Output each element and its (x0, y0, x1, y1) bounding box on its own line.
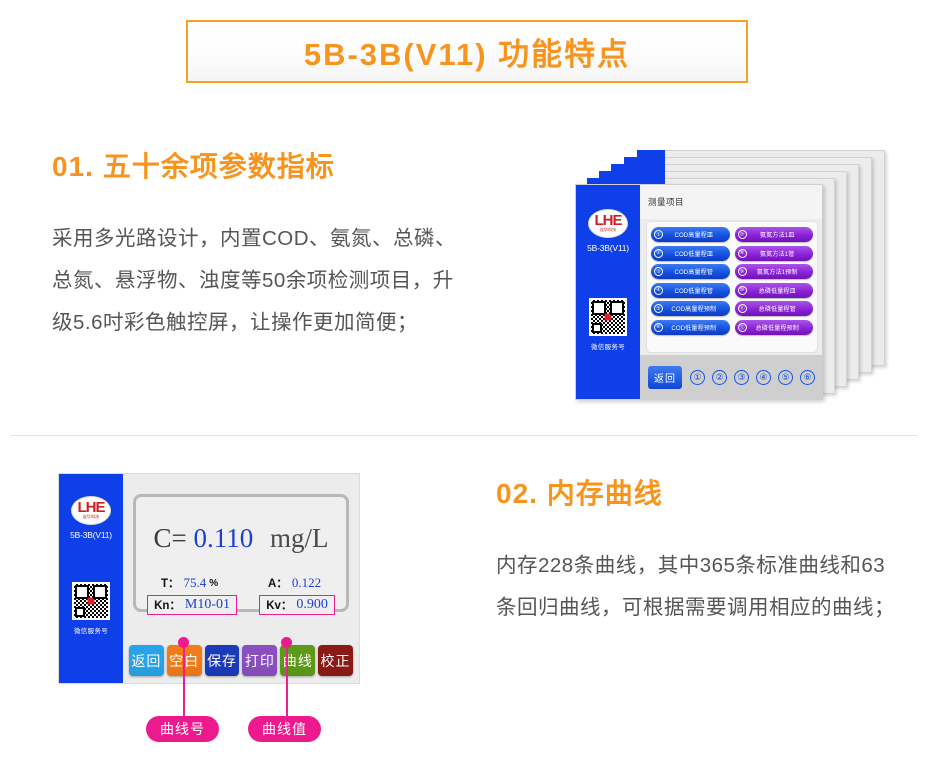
transmittance-readout: T： 75.4 % (161, 575, 218, 591)
menu-page-number-3[interactable]: ③ (734, 370, 749, 385)
lcd-row-curve: Kn： M10-01 Kv： 0.900 (136, 595, 346, 615)
curve-number-field[interactable]: Kn： M10-01 (147, 595, 237, 615)
menu-footer-bar: 返回 ①②③④⑤⑥ (640, 355, 822, 399)
curve-value-value: 0.900 (296, 597, 328, 613)
menu-column-left: ①COD高量程皿②COD低量程皿③COD高量程管④COD低量程管⑤COD高量程预… (651, 227, 730, 347)
menu-item-label: 总磷低量程管 (749, 304, 814, 313)
menu-item-label: 氨氮方法1管 (749, 249, 814, 258)
device-model-label-2: 5B-3B(V11) (70, 530, 112, 540)
curve-number-key: Kn： (154, 597, 181, 613)
menu-button-panel: ①COD高量程皿②COD低量程皿③COD高量程管④COD低量程管⑤COD高量程预… (646, 221, 818, 353)
menu-item-left-1[interactable]: ①COD高量程皿 (651, 227, 730, 242)
menu-item-right-1[interactable]: ⑦氨氮方法1皿 (735, 227, 814, 242)
concentration-readout: C= 0.110 mg/L (136, 523, 346, 554)
menu-page-number-2[interactable]: ② (712, 370, 727, 385)
menu-item-label: 氨氮方法1皿 (749, 230, 814, 239)
menu-back-button[interactable]: 返回 (648, 366, 682, 389)
curve-value-field[interactable]: Kv： 0.900 (259, 595, 335, 615)
callout-curve-number: 曲线号 (146, 716, 219, 742)
page-title: 5B-3B(V11) 功能特点 (304, 29, 630, 74)
page-root: 5B-3B(V11) 功能特点 01. 五十余项参数指标 采用多光路设计，内置C… (0, 0, 928, 766)
qr-center-icon (605, 314, 612, 321)
section-divider (10, 435, 918, 436)
transmittance-unit: % (209, 578, 218, 589)
brand-logo-subtext: 连华科技 (600, 227, 617, 233)
menu-header-label: 测量项目 (648, 196, 684, 208)
menu-item-left-6[interactable]: ⑥COD低量程预制 (651, 320, 730, 335)
concentration-key: C= (154, 523, 187, 553)
menu-item-index: ② (654, 249, 663, 258)
brand-logo-2: LHE 连华科技 (71, 496, 111, 525)
device-model-label: 5B-3B(V11) (587, 243, 629, 253)
lcd-row-transmittance: T： 75.4 % A： 0.122 (136, 575, 346, 591)
absorbance-key: A： (268, 575, 288, 591)
menu-item-label: 总磷低量程皿 (749, 286, 814, 295)
curve-value-key: Kv： (266, 597, 292, 613)
menu-item-right-6[interactable]: ⑫总磷低量程预制 (735, 320, 814, 335)
menu-item-label: COD高量程管 (665, 267, 730, 276)
menu-page-number-5[interactable]: ⑤ (778, 370, 793, 385)
result-toolbar: 返回空白保存打印曲线校正 (123, 644, 359, 677)
menu-item-right-3[interactable]: ⑨氨氮方法1预制 (735, 264, 814, 279)
menu-item-index: ① (654, 230, 663, 239)
callout-line-curve-number (183, 646, 185, 722)
brand-logo-subtext-2: 连华科技 (83, 514, 100, 520)
callout-curve-value: 曲线值 (248, 716, 321, 742)
menu-page-number-4[interactable]: ④ (756, 370, 771, 385)
menu-item-index: ⑦ (738, 230, 747, 239)
menu-item-right-5[interactable]: ⑪总磷低量程管 (735, 301, 814, 316)
menu-item-label: 总磷低量程预制 (749, 323, 814, 332)
result-button-4[interactable]: 打印 (242, 645, 277, 676)
menu-page-number-1[interactable]: ① (690, 370, 705, 385)
result-screen-device: LHE 连华科技 5B-3B(V11) 微信服务号 C= 0.110 mg/L … (58, 473, 360, 684)
menu-item-left-3[interactable]: ③COD高量程管 (651, 264, 730, 279)
menu-item-left-5[interactable]: ⑤COD高量程预制 (651, 301, 730, 316)
device-sidebar-2: LHE 连华科技 5B-3B(V11) 微信服务号 (59, 474, 123, 683)
menu-header: 测量项目 (640, 185, 822, 219)
page-title-banner: 5B-3B(V11) 功能特点 (186, 20, 748, 83)
qr-code-label: 微信服务号 (591, 341, 625, 351)
menu-item-index: ⑫ (738, 323, 747, 332)
menu-item-label: COD低量程管 (665, 286, 730, 295)
lcd-panel: C= 0.110 mg/L T： 75.4 % A： 0.122 (133, 494, 349, 612)
menu-item-label: COD高量程预制 (665, 304, 730, 313)
section-1-title: 01. 五十余项参数指标 (52, 145, 335, 185)
menu-item-index: ⑤ (654, 304, 663, 313)
menu-item-label: COD低量程皿 (665, 249, 730, 258)
measurement-menu-stack: LHE 连华科技 5B-3B(V11) 微信服务号 测量项目 ①COD高量程皿②… (575, 150, 885, 400)
transmittance-value: 75.4 (183, 575, 206, 591)
menu-item-index: ⑥ (654, 323, 663, 332)
menu-item-left-4[interactable]: ④COD低量程管 (651, 283, 730, 298)
result-button-1[interactable]: 返回 (129, 645, 164, 676)
qr-finder-icon-2 (75, 607, 85, 617)
section-2-title: 02. 内存曲线 (496, 472, 663, 512)
measurement-menu-card: LHE 连华科技 5B-3B(V11) 微信服务号 测量项目 ①COD高量程皿②… (575, 184, 823, 400)
curve-number-value: M10-01 (185, 597, 230, 613)
qr-center-icon-2 (88, 598, 95, 605)
menu-item-index: ③ (654, 267, 663, 276)
concentration-value: 0.110 (194, 523, 254, 553)
menu-item-label: COD高量程皿 (665, 230, 730, 239)
qr-code-icon-2 (72, 582, 110, 620)
section-1-body: 采用多光路设计，内置COD、氨氮、总磷、总氮、悬浮物、浊度等50余项检测项目，升… (52, 218, 472, 344)
menu-item-right-4[interactable]: ⑩总磷低量程皿 (735, 283, 814, 298)
menu-item-label: COD低量程预制 (665, 323, 730, 332)
menu-item-index: ⑨ (738, 267, 747, 276)
menu-item-right-2[interactable]: ⑧氨氮方法1管 (735, 246, 814, 261)
brand-logo-letters-2: LHE (78, 501, 105, 514)
menu-item-index: ④ (654, 286, 663, 295)
transmittance-key: T： (161, 575, 180, 591)
menu-page-number-6[interactable]: ⑥ (800, 370, 815, 385)
brand-logo-letters: LHE (595, 214, 622, 227)
section-2-body: 内存228条曲线，其中365条标准曲线和63条回归曲线，可根据需要调用相应的曲线… (496, 545, 896, 629)
menu-item-index: ⑪ (738, 304, 747, 313)
qr-code-icon (589, 298, 627, 336)
menu-item-left-2[interactable]: ②COD低量程皿 (651, 246, 730, 261)
menu-item-index: ⑩ (738, 286, 747, 295)
menu-page-numbers: ①②③④⑤⑥ (690, 370, 815, 385)
callout-line-curve-value (286, 646, 288, 722)
result-button-3[interactable]: 保存 (205, 645, 240, 676)
device-sidebar: LHE 连华科技 5B-3B(V11) 微信服务号 (576, 185, 640, 399)
result-screen-body: C= 0.110 mg/L T： 75.4 % A： 0.122 (123, 474, 359, 683)
absorbance-value: 0.122 (292, 575, 321, 591)
menu-item-label: 氨氮方法1预制 (749, 267, 814, 276)
menu-item-index: ⑧ (738, 249, 747, 258)
qr-finder-icon (592, 323, 602, 333)
brand-logo: LHE 连华科技 (588, 209, 628, 238)
absorbance-readout: A： 0.122 (268, 575, 321, 591)
result-button-6[interactable]: 校正 (318, 645, 353, 676)
concentration-unit: mg/L (270, 523, 329, 553)
qr-code-label-2: 微信服务号 (74, 625, 108, 635)
menu-column-right: ⑦氨氮方法1皿⑧氨氮方法1管⑨氨氮方法1预制⑩总磷低量程皿⑪总磷低量程管⑫总磷低… (735, 227, 814, 347)
